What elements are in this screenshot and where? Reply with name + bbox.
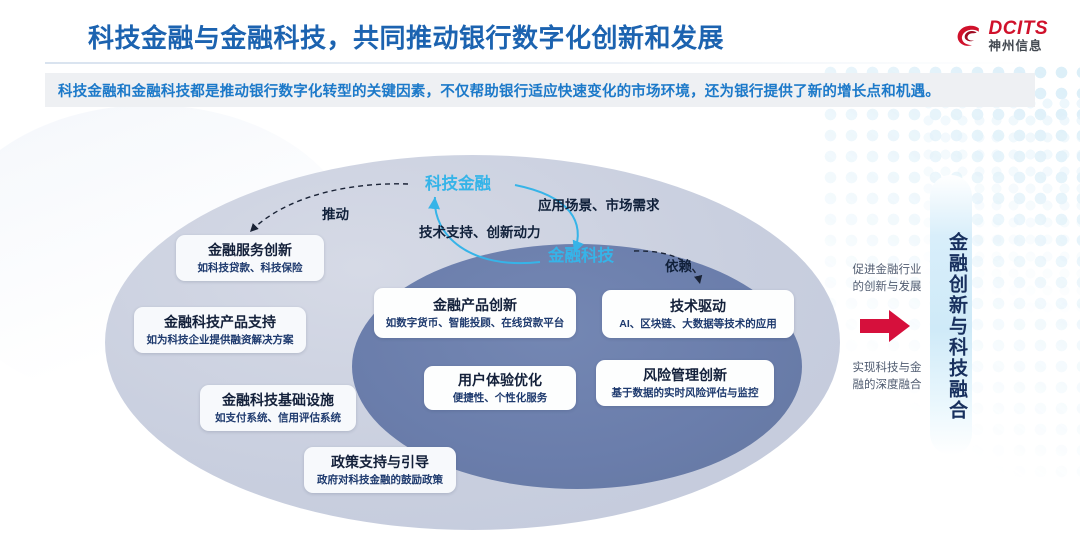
card-technology-driven[interactable]: 技术驱动 AI、区块链、大数据等技术的应用 bbox=[602, 290, 794, 338]
card-fintech-product-support[interactable]: 金融科技产品支持 如为科技企业提供融资解决方案 bbox=[134, 307, 306, 353]
card-financial-service-innovation[interactable]: 金融服务创新 如科技贷款、科技保险 bbox=[176, 235, 324, 281]
subtitle-bar: 科技金融和金融科技都是推动银行数字化转型的关键因素，不仅帮助银行适应快速变化的市… bbox=[45, 73, 1035, 107]
page-title: 科技金融与金融科技，共同推动银行数字化创新和发展 bbox=[88, 18, 724, 55]
card-risk-management-innovation[interactable]: 风险管理创新 基于数据的实时风险评估与监控 bbox=[596, 360, 774, 406]
card-subtitle: 便捷性、个性化服务 bbox=[453, 392, 548, 404]
node-label-keji-jinrong: 科技金融 bbox=[425, 170, 491, 194]
slide-canvas: 科技金融与金融科技，共同推动银行数字化创新和发展 DCITS 神州信息 科技金融… bbox=[0, 0, 1080, 540]
right-note-top-line1: 促进金融行业 bbox=[838, 262, 936, 279]
card-title: 用户体验优化 bbox=[458, 372, 542, 388]
right-note-top: 促进金融行业 的创新与发展 bbox=[838, 262, 936, 297]
title-divider bbox=[45, 62, 1035, 64]
right-arrow-icon bbox=[858, 308, 912, 344]
card-financial-product-innovation[interactable]: 金融产品创新 如数字货币、智能投顾、在线贷款平台 bbox=[374, 288, 576, 338]
card-subtitle: 如数字货币、智能投顾、在线贷款平台 bbox=[386, 317, 565, 329]
node-label-jinrong-keji: 金融科技 bbox=[548, 242, 614, 266]
subtitle-text: 科技金融和金融科技都是推动银行数字化转型的关键因素，不仅帮助银行适应快速变化的市… bbox=[45, 80, 940, 101]
card-title: 金融产品创新 bbox=[433, 297, 517, 313]
card-subtitle: 基于数据的实时风险评估与监控 bbox=[612, 387, 759, 399]
flow-label-tuidong: 推动 bbox=[322, 203, 349, 223]
flow-label-jishu-zhichi: 技术支持、创新动力 bbox=[419, 221, 541, 241]
right-note-bottom-line2: 融的深度融合 bbox=[838, 377, 936, 394]
card-subtitle: 如为科技企业提供融资解决方案 bbox=[147, 334, 294, 346]
flow-label-yingyong-changjing: 应用场景、市场需求 bbox=[538, 194, 660, 214]
logo-text-cn: 神州信息 bbox=[989, 40, 1049, 53]
vertical-title: 金融创新与科技融合 bbox=[936, 232, 966, 421]
card-subtitle: 政府对科技金融的鼓励政策 bbox=[317, 474, 443, 486]
right-note-top-line2: 的创新与发展 bbox=[838, 279, 936, 296]
right-note-bottom: 实现科技与金 融的深度融合 bbox=[838, 360, 936, 395]
card-title: 金融科技基础设施 bbox=[222, 392, 334, 408]
card-fintech-infrastructure[interactable]: 金融科技基础设施 如支付系统、信用评估系统 bbox=[200, 385, 356, 431]
card-subtitle: AI、区块链、大数据等技术的应用 bbox=[619, 318, 777, 330]
logo-text-en: DCITS bbox=[989, 19, 1049, 38]
flow-label-yilai: 依赖 bbox=[665, 255, 692, 275]
right-note-bottom-line1: 实现科技与金 bbox=[838, 360, 936, 377]
card-user-experience-optimization[interactable]: 用户体验优化 便捷性、个性化服务 bbox=[424, 366, 576, 410]
card-title: 金融服务创新 bbox=[208, 242, 292, 258]
card-subtitle: 如科技贷款、科技保险 bbox=[198, 262, 303, 274]
card-title: 技术驱动 bbox=[670, 298, 726, 314]
card-title: 金融科技产品支持 bbox=[164, 314, 276, 330]
card-policy-support[interactable]: 政策支持与引导 政府对科技金融的鼓励政策 bbox=[304, 447, 456, 493]
card-title: 风险管理创新 bbox=[643, 367, 727, 383]
brand-logo: DCITS 神州信息 bbox=[955, 16, 1049, 56]
dcits-swirl-icon bbox=[955, 22, 983, 50]
card-subtitle: 如支付系统、信用评估系统 bbox=[215, 412, 341, 424]
card-title: 政策支持与引导 bbox=[331, 454, 429, 470]
